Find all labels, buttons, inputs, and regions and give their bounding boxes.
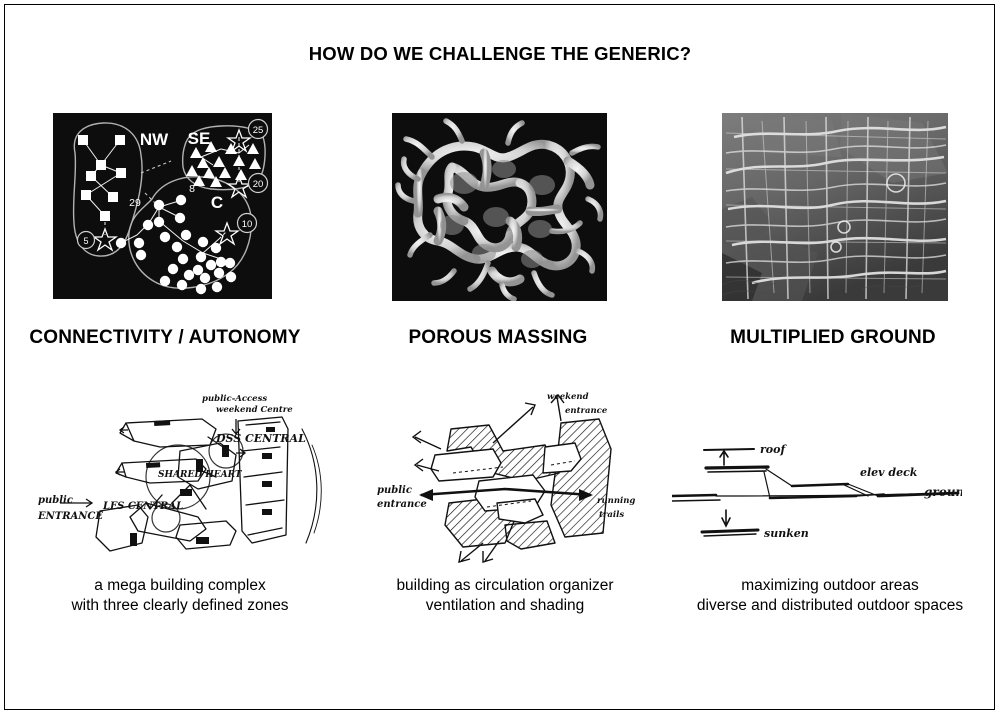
image-porous-massing xyxy=(392,113,607,301)
annotation-public: public xyxy=(38,495,73,506)
annotation-entrance: ENTRANCE xyxy=(37,511,103,522)
caption-connectivity: CONNECTIVITY / AUTONOMY xyxy=(0,327,330,349)
annotation-weekend-centre: weekend Centre xyxy=(216,405,293,415)
annotation-running: running xyxy=(597,496,635,506)
zone-label-c: C xyxy=(211,193,223,212)
slide-canvas: HOW DO WE CHALLENGE THE GENERIC? xyxy=(0,0,1000,715)
bottom-caption-circulation-line1: building as circulation organizer xyxy=(345,576,665,596)
link-label-8: 8 xyxy=(189,183,195,195)
annotation-lfs-central-1: LFS CENTRAL xyxy=(102,501,183,512)
sketch-mega-building-complex: public-Access weekend Centre DSS CENTRAL… xyxy=(30,385,330,567)
annotation-weekend: weekend xyxy=(547,392,589,402)
svg-text:25: 25 xyxy=(253,125,264,136)
annotation-entrance-mid: entrance xyxy=(377,499,427,510)
bottom-caption-circulation-line2: ventilation and shading xyxy=(345,596,665,616)
bottom-caption-complex-line1: a mega building complex xyxy=(15,576,345,596)
section-sketch-svg: roof elev deck ground sunken xyxy=(672,420,962,560)
annotation-ground: ground xyxy=(924,485,962,499)
sketch-circulation-organizer: weekend entrance public entrance running… xyxy=(375,385,637,563)
page-title: HOW DO WE CHALLENGE THE GENERIC? xyxy=(0,43,1000,65)
annotation-shared: SHARED HEART xyxy=(158,470,243,480)
svg-text:10: 10 xyxy=(242,219,253,230)
caption-porous: POROUS MASSING xyxy=(330,327,666,349)
annotation-public-mid: public xyxy=(377,485,412,496)
caption-ground: MULTIPLIED GROUND xyxy=(666,327,1000,349)
svg-text:20: 20 xyxy=(253,179,264,190)
annotation-trails: trails xyxy=(599,510,624,520)
link-label-29: 29 xyxy=(129,197,141,209)
annotation-roof: roof xyxy=(760,443,787,456)
bottom-caption-complex-line2: with three clearly defined zones xyxy=(15,596,345,616)
bottom-caption-section: maximizing outdoor areas diverse and dis… xyxy=(665,576,995,616)
image-multiplied-ground xyxy=(722,113,948,301)
annotation-dss-central: DSS CENTRAL xyxy=(215,432,306,445)
bottom-caption-section-line1: maximizing outdoor areas xyxy=(665,576,995,596)
annotation-entrance-we: entrance xyxy=(565,406,608,416)
bottom-caption-section-line2: diverse and distributed outdoor spaces xyxy=(665,596,995,616)
aerial-landscape-svg xyxy=(722,113,948,301)
annotation-elev-deck: elev deck xyxy=(860,466,918,479)
annotation-public-access: public-Access xyxy=(202,394,267,404)
zone-label-nw: NW xyxy=(140,130,169,149)
bottom-caption-circulation: building as circulation organizer ventil… xyxy=(345,576,665,616)
zone-label-se: SE xyxy=(188,129,211,148)
connectivity-network-svg: 5 25 20 10 NW SE C 29 8 xyxy=(53,113,272,299)
annotation-sunken: sunken xyxy=(764,527,809,540)
bottom-caption-complex: a mega building complex with three clear… xyxy=(15,576,345,616)
circulation-sketch-svg: weekend entrance public entrance running… xyxy=(375,385,637,563)
svg-text:5: 5 xyxy=(83,236,88,246)
porous-structure-svg xyxy=(392,113,607,301)
image-connectivity-diagram: 5 25 20 10 NW SE C 29 8 xyxy=(53,113,272,299)
sketch-section-levels: roof elev deck ground sunken xyxy=(672,420,962,560)
plan-sketch-svg: public-Access weekend Centre DSS CENTRAL… xyxy=(30,385,330,567)
